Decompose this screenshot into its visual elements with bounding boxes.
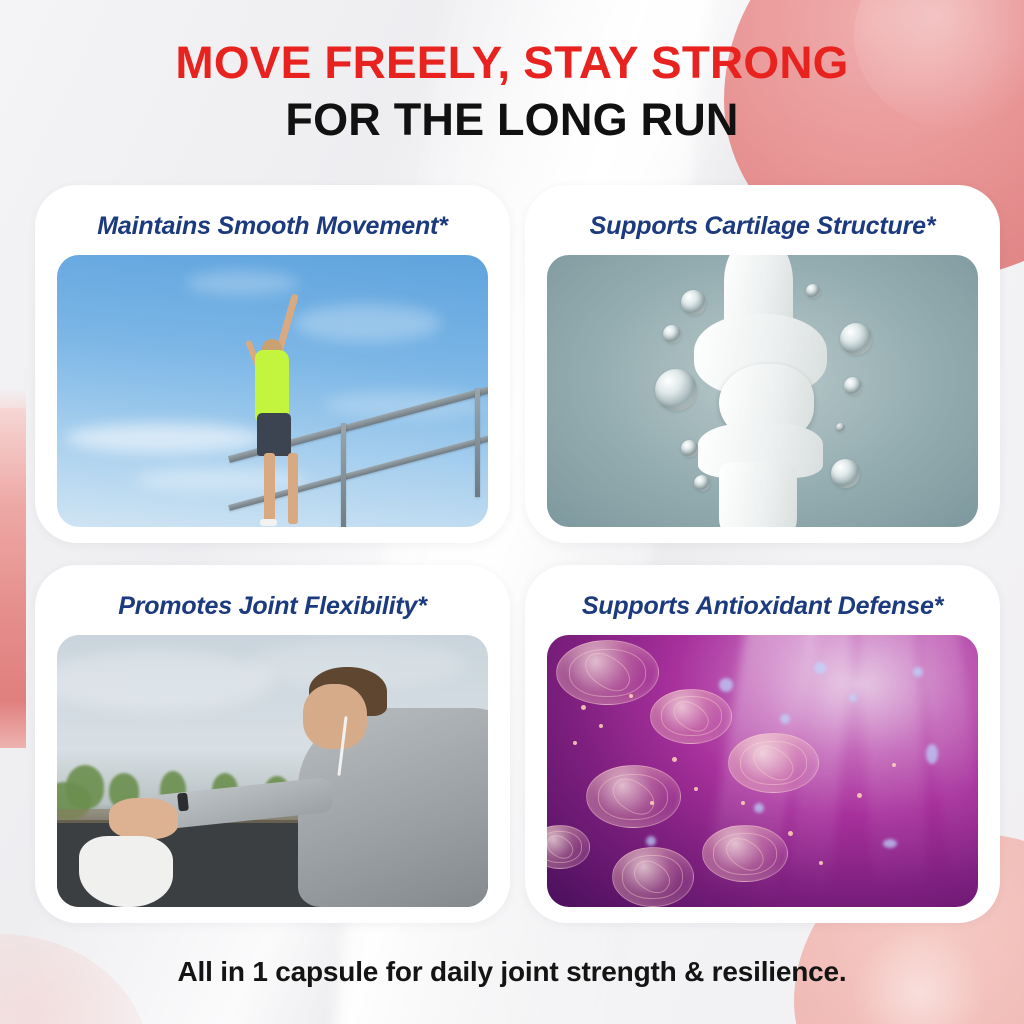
benefit-card-maintains-smooth-movement: Maintains Smooth Movement* [35,185,510,543]
benefit-card-supports-cartilage-structure: Supports Cartilage Structure* [525,185,1000,543]
headline-line-2: FOR THE LONG RUN [0,94,1024,146]
card-image-knee-joint [547,255,978,528]
card-title: Supports Cartilage Structure* [539,199,986,255]
decorative-strip-left [0,408,26,748]
card-image-athlete-arms-raised [57,255,488,528]
benefit-card-supports-antioxidant-defense: Supports Antioxidant Defense* [525,565,1000,923]
headline-line-1: MOVE FREELY, STAY STRONG [0,40,1024,86]
benefit-card-promotes-joint-flexibility: Promotes Joint Flexibility* [35,565,510,923]
card-image-man-stretching [57,635,488,908]
card-title: Supports Antioxidant Defense* [539,579,986,635]
page-headline: MOVE FREELY, STAY STRONG FOR THE LONG RU… [0,40,1024,146]
benefit-card-grid: Maintains Smooth Movement* Supports Cart… [35,185,990,925]
card-title: Promotes Joint Flexibility* [49,579,496,635]
card-title: Maintains Smooth Movement* [49,199,496,255]
footer-tagline: All in 1 capsule for daily joint strengt… [0,956,1024,988]
card-image-antioxidant-cells [547,635,978,908]
